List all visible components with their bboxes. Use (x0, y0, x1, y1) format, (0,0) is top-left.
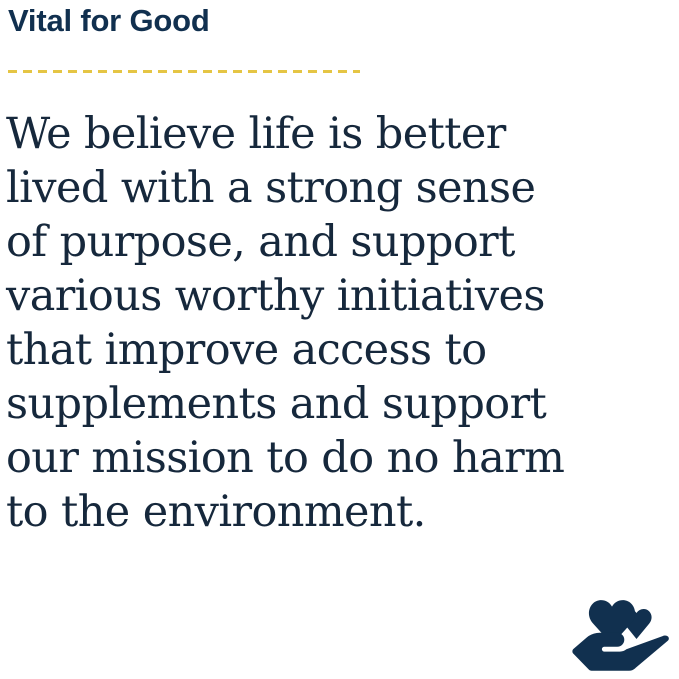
body-line: to the environment. (6, 485, 626, 539)
hand-holding-hearts-icon (572, 594, 672, 672)
body-line: our mission to do no harm (6, 431, 626, 485)
body-line: supplements and support (6, 377, 626, 431)
body-line: lived with a strong sense (6, 161, 626, 215)
body-line: that improve access to (6, 323, 626, 377)
body-line: of purpose, and support (6, 215, 626, 269)
vital-for-good-card: Vital for Good We believe life is better… (0, 0, 679, 679)
page-title: Vital for Good (8, 1, 210, 41)
body-line: various worthy initiatives (6, 269, 626, 323)
body-line: We believe life is better (6, 107, 626, 161)
body-paragraph: We believe life is better lived with a s… (6, 107, 626, 539)
dashed-divider (8, 70, 360, 73)
